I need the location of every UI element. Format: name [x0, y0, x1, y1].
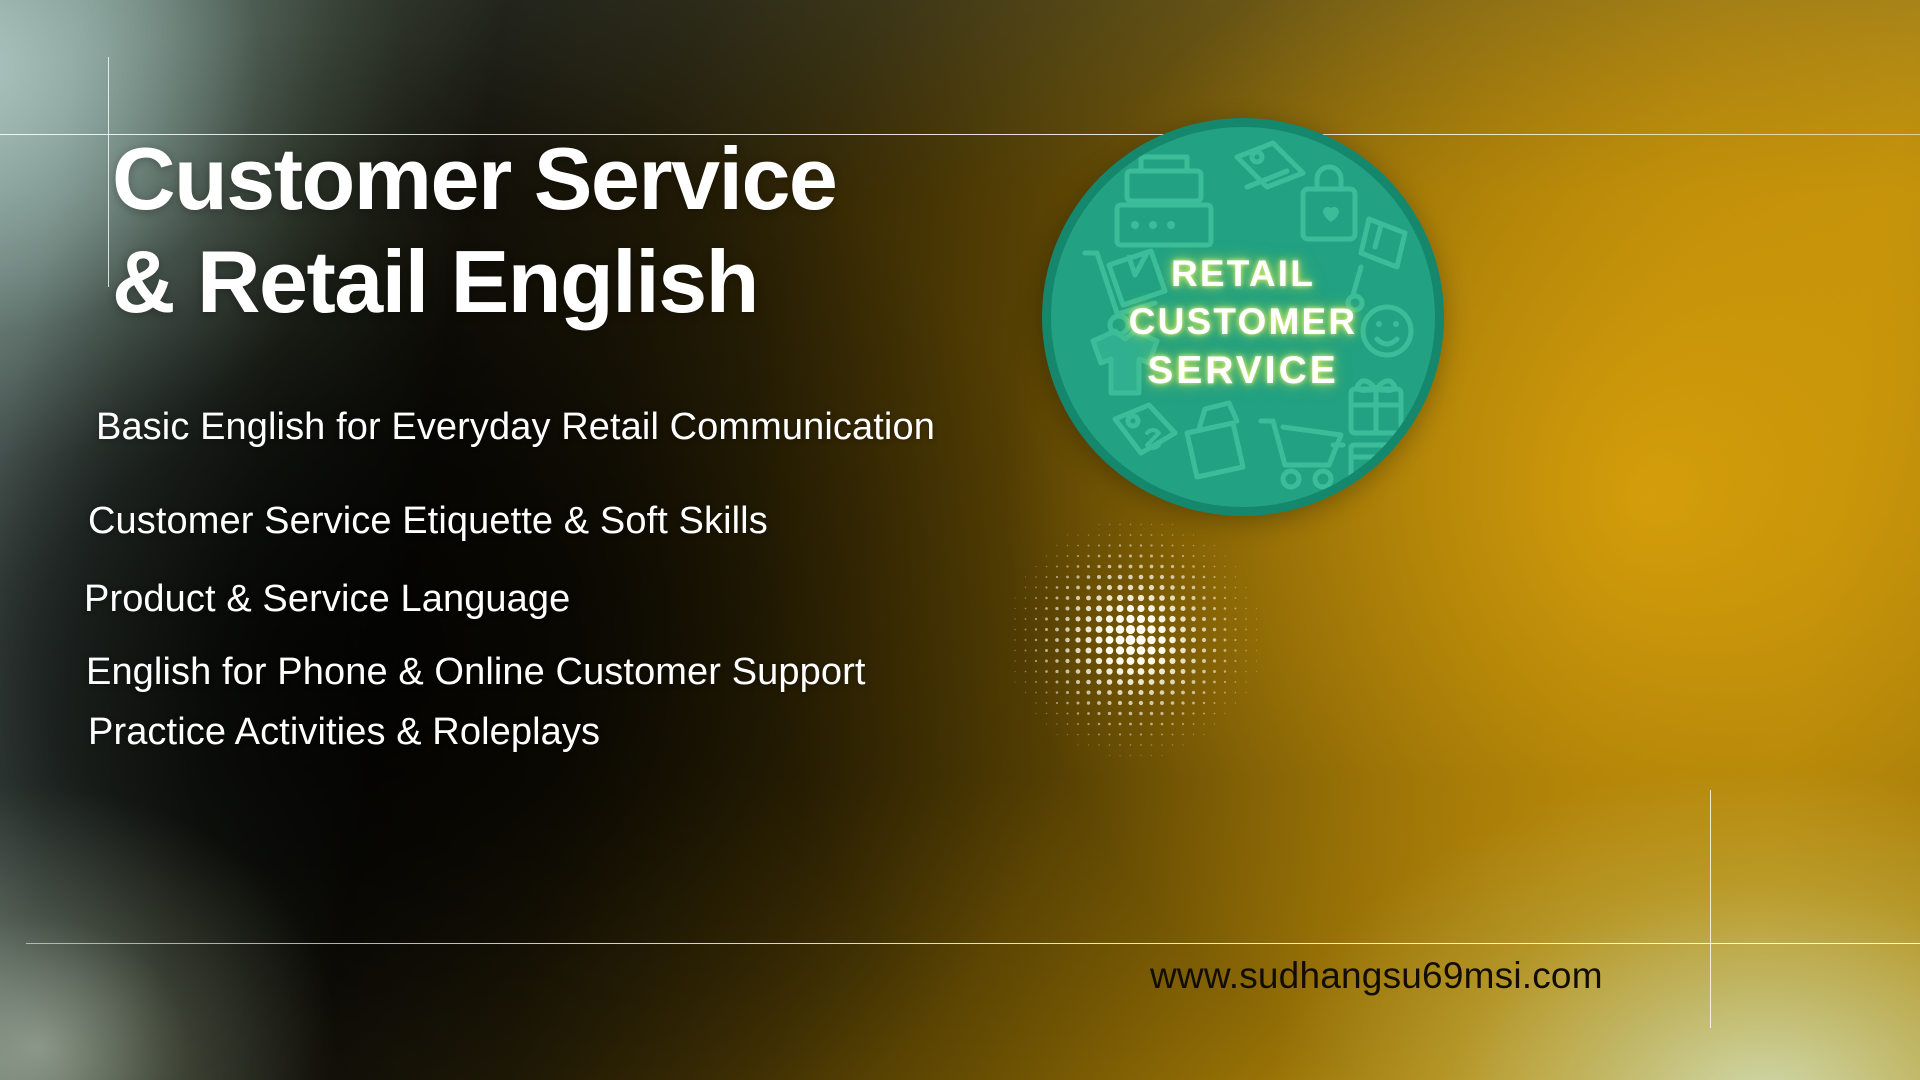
badge-face: RETAIL CUSTOMER SERVICE — [1051, 127, 1435, 507]
page-title: Customer Service & Retail English — [112, 128, 1092, 334]
shopping-bag-heart-icon — [1303, 167, 1355, 239]
delivery-cart-icon — [1333, 445, 1397, 479]
badge-line-3: SERVICE — [1051, 346, 1435, 397]
title-line-1: Customer Service — [112, 128, 1092, 231]
title-line-2: & Retail English — [112, 231, 1092, 334]
slide-canvas: Customer Service & Retail English Basic … — [0, 0, 1920, 1080]
badge-line-1: RETAIL — [1051, 250, 1435, 298]
retail-customer-service-badge: RETAIL CUSTOMER SERVICE — [1042, 118, 1444, 516]
shopping-cart-icon — [1261, 421, 1341, 487]
list-item: Basic English for Everyday Retail Commun… — [96, 408, 935, 446]
website-url[interactable]: www.sudhangsu69msi.com — [1150, 955, 1603, 997]
badge-text-block: RETAIL CUSTOMER SERVICE — [1051, 250, 1435, 397]
list-item: Practice Activities & Roleplays — [88, 713, 600, 751]
list-item: English for Phone & Online Customer Supp… — [86, 653, 866, 691]
corner-rule-bottom-right-vertical — [1710, 790, 1711, 1028]
shopping-basket-icon — [1187, 403, 1243, 477]
list-item: Customer Service Etiquette & Soft Skills — [88, 502, 768, 540]
corner-rule-bottom-right-horizontal — [26, 943, 1920, 944]
list-item: Product & Service Language — [84, 580, 570, 618]
corner-rule-top-left-vertical — [108, 57, 109, 287]
discount-tag-icon — [1115, 405, 1175, 453]
halftone-dot-cluster — [988, 508, 1268, 768]
cash-register-icon — [1117, 157, 1211, 245]
badge-line-2: CUSTOMER — [1051, 298, 1435, 346]
price-tag-icon — [1237, 143, 1303, 187]
